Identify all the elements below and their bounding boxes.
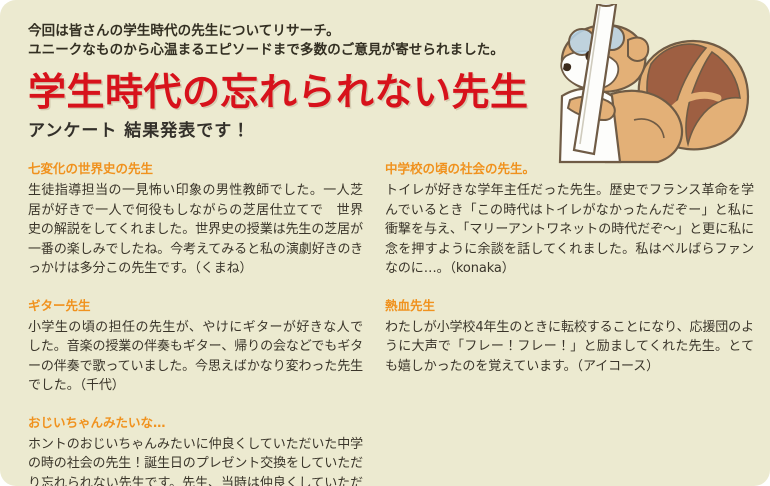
survey-results-page: 今回は皆さんの学生時代の先生についてリサーチ。 ユニークなものから心温まるエピソ… bbox=[0, 0, 770, 486]
entry-item: 中学校の頃の社会の先生。 トイレが好きな学年主任だった先生。歴史でフランス革命を… bbox=[385, 160, 754, 279]
entries-columns: 七変化の世界史の先生 生徒指導担当の一見怖い印象の男性教師でした。一人芝居が好き… bbox=[0, 160, 770, 486]
intro-line-1: 今回は皆さんの学生時代の先生についてリサーチ。 bbox=[28, 22, 588, 41]
page-subtitle: アンケート 結果発表です！ bbox=[28, 120, 588, 142]
entry-item: おじいちゃんみたいな… ホントのおじいちゃんみたいに仲良くしていただいた中学の時… bbox=[28, 414, 363, 486]
intro-line-2: ユニークなものから心温まるエピソードまで多数のご意見が寄せられました。 bbox=[28, 41, 588, 60]
entry-title: 七変化の世界史の先生 bbox=[28, 160, 363, 178]
entry-title: 熱血先生 bbox=[385, 297, 754, 315]
left-column: 七変化の世界史の先生 生徒指導担当の一見怖い印象の男性教師でした。一人芝居が好き… bbox=[0, 160, 375, 486]
entry-item: ギター先生 小学生の頃の担任の先生が、やけにギターが好きな人でした。音楽の授業の… bbox=[28, 297, 363, 396]
entry-body: トイレが好きな学年主任だった先生。歴史でフランス革命を学んでいるとき「この時代は… bbox=[385, 181, 754, 279]
entry-title: 中学校の頃の社会の先生。 bbox=[385, 160, 754, 178]
entry-body: 生徒指導担当の一見怖い印象の男性教師でした。一人芝居が好きで一人で何役もしながら… bbox=[28, 181, 363, 279]
page-title: 学生時代の忘れられない先生 bbox=[28, 70, 588, 114]
right-column: 中学校の頃の社会の先生。 トイレが好きな学年主任だった先生。歴史でフランス革命を… bbox=[375, 160, 770, 486]
squirrel-teacher-icon bbox=[554, 4, 764, 164]
entry-body: わたしが小学校4年生のときに転校することになり、応援団のように大声で「フレー！フ… bbox=[385, 318, 754, 377]
entry-body: 小学生の頃の担任の先生が、やけにギターが好きな人でした。音楽の授業の伴奏もギター… bbox=[28, 318, 363, 396]
entry-item: 熱血先生 わたしが小学校4年生のときに転校することになり、応援団のように大声で「… bbox=[385, 297, 754, 377]
entry-title: ギター先生 bbox=[28, 297, 363, 315]
entry-body: ホントのおじいちゃんみたいに仲良くしていただいた中学の時の社会の先生！誕生日のプ… bbox=[28, 435, 363, 486]
entry-item: 七変化の世界史の先生 生徒指導担当の一見怖い印象の男性教師でした。一人芝居が好き… bbox=[28, 160, 363, 279]
entry-title: おじいちゃんみたいな… bbox=[28, 414, 363, 432]
page-header: 今回は皆さんの学生時代の先生についてリサーチ。 ユニークなものから心温まるエピソ… bbox=[28, 22, 588, 142]
content-panel: 今回は皆さんの学生時代の先生についてリサーチ。 ユニークなものから心温まるエピソ… bbox=[0, 0, 770, 486]
